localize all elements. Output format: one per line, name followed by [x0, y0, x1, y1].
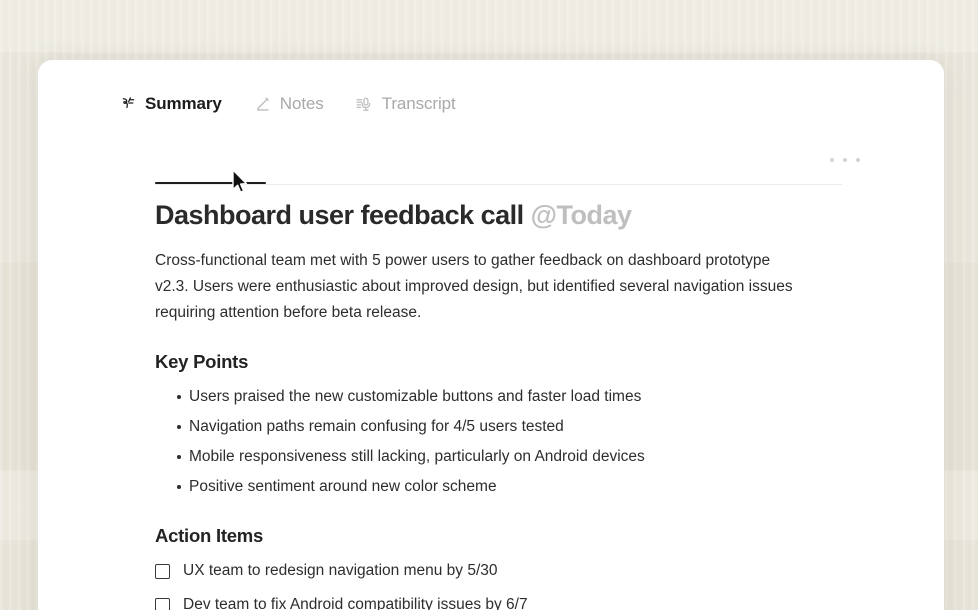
checkbox-unchecked-icon[interactable] — [155, 598, 170, 610]
tab-notes[interactable]: Notes — [252, 82, 326, 126]
key-points-list: Users praised the new customizable butto… — [155, 387, 855, 497]
tab-bar: Summary Notes Transcri — [117, 82, 805, 130]
pencil-icon — [254, 96, 271, 113]
page-title: Dashboard user feedback call @Today — [155, 198, 855, 233]
list-item: Positive sentiment around new color sche… — [155, 477, 855, 497]
tab-bar-divider — [155, 184, 842, 185]
summary-paragraph: Cross-functional team met with 5 power u… — [155, 248, 800, 326]
date-chip: @Today — [531, 200, 632, 230]
ellipsis-dot — [830, 158, 834, 162]
ellipsis-horizontal-icon[interactable] — [830, 150, 860, 170]
active-tab-indicator — [155, 182, 266, 184]
document-body: Dashboard user feedback call @Today Cros… — [155, 198, 855, 610]
ellipsis-dot — [843, 158, 847, 162]
ellipsis-dot — [856, 158, 860, 162]
checklist-item-label: UX team to redesign navigation menu by 5… — [183, 561, 498, 581]
tab-summary-label: Summary — [145, 94, 222, 114]
checklist-item[interactable]: Dev team to fix Android compatibility is… — [155, 595, 855, 610]
checkbox-unchecked-icon[interactable] — [155, 564, 170, 579]
action-items-list: UX team to redesign navigation menu by 5… — [155, 561, 855, 610]
tab-notes-label: Notes — [280, 94, 324, 114]
section-heading-key-points: Key Points — [155, 351, 855, 373]
list-item: Navigation paths remain confusing for 4/… — [155, 417, 855, 437]
tab-transcript-label: Transcript — [382, 94, 456, 114]
checklist-item-label: Dev team to fix Android compatibility is… — [183, 595, 528, 610]
tab-transcript[interactable]: Transcript — [354, 82, 458, 126]
page-title-text: Dashboard user feedback call — [155, 200, 524, 230]
list-item: Users praised the new customizable butto… — [155, 387, 855, 407]
list-item: Mobile responsiveness still lacking, par… — [155, 447, 855, 467]
checklist-item[interactable]: UX team to redesign navigation menu by 5… — [155, 561, 855, 581]
microphone-icon — [356, 96, 373, 113]
section-heading-action-items: Action Items — [155, 525, 855, 547]
sparkle-icon — [119, 96, 136, 113]
tab-summary[interactable]: Summary — [117, 82, 224, 126]
